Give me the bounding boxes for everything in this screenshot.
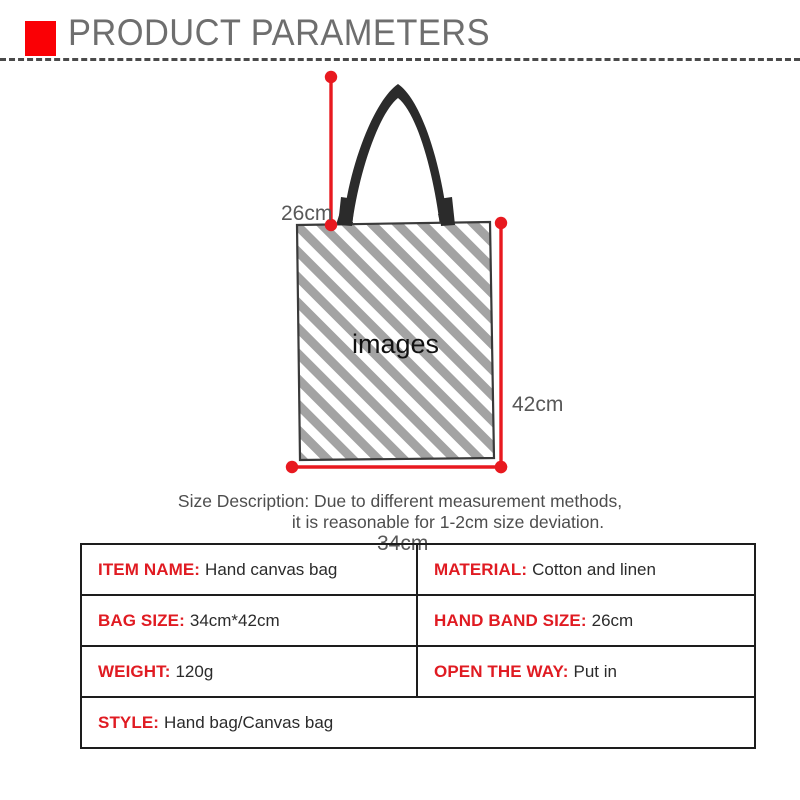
dimension-line-bag-width bbox=[286, 461, 507, 473]
spec-key: BAG SIZE: bbox=[98, 611, 185, 630]
spec-cell-weight: WEIGHT:120g bbox=[81, 646, 417, 697]
spec-value: 34cm*42cm bbox=[185, 611, 280, 630]
spec-key: OPEN THE WAY: bbox=[434, 662, 569, 681]
dimension-label-handle-drop: 26cm bbox=[281, 202, 332, 226]
image-watermark: images bbox=[352, 329, 439, 360]
dimension-line-bag-height bbox=[495, 217, 507, 473]
spec-cell-open-the-way: OPEN THE WAY:Put in bbox=[417, 646, 755, 697]
header-divider bbox=[0, 58, 800, 61]
dimension-label-bag-height: 42cm bbox=[512, 393, 563, 417]
page-title: PRODUCT PARAMETERS bbox=[68, 12, 490, 54]
spec-value: 120g bbox=[170, 662, 213, 681]
spec-key: STYLE: bbox=[98, 713, 159, 732]
size-description-line-2: it is reasonable for 1-2cm size deviatio… bbox=[0, 512, 800, 533]
page-header: PRODUCT PARAMETERS bbox=[0, 0, 800, 60]
size-description-line-1: Size Description: Due to different measu… bbox=[0, 491, 800, 512]
spec-value: Put in bbox=[569, 662, 617, 681]
spec-key: WEIGHT: bbox=[98, 662, 170, 681]
spec-cell-material: MATERIAL:Cotton and linen bbox=[417, 544, 755, 595]
table-row: ITEM NAME:Hand canvas bag MATERIAL:Cotto… bbox=[81, 544, 755, 595]
table-row: WEIGHT:120g OPEN THE WAY:Put in bbox=[81, 646, 755, 697]
spec-cell-item-name: ITEM NAME:Hand canvas bag bbox=[81, 544, 417, 595]
tote-bag-icon bbox=[0, 62, 800, 482]
spec-value: 26cm bbox=[587, 611, 634, 630]
spec-cell-bag-size: BAG SIZE:34cm*42cm bbox=[81, 595, 417, 646]
spec-cell-hand-band-size: HAND BAND SIZE:26cm bbox=[417, 595, 755, 646]
red-square-icon bbox=[25, 21, 56, 56]
spec-value: Hand bag/Canvas bag bbox=[159, 713, 333, 732]
spec-key: ITEM NAME: bbox=[98, 560, 200, 579]
spec-value: Hand canvas bag bbox=[200, 560, 337, 579]
table-row: STYLE:Hand bag/Canvas bag bbox=[81, 697, 755, 748]
size-description: Size Description: Due to different measu… bbox=[0, 491, 800, 533]
product-diagram: 26cm 42cm 34cm bbox=[0, 62, 800, 482]
specification-table: ITEM NAME:Hand canvas bag MATERIAL:Cotto… bbox=[80, 543, 756, 749]
spec-key: HAND BAND SIZE: bbox=[434, 611, 587, 630]
spec-cell-style: STYLE:Hand bag/Canvas bag bbox=[81, 697, 755, 748]
spec-key: MATERIAL: bbox=[434, 560, 527, 579]
table-row: BAG SIZE:34cm*42cm HAND BAND SIZE:26cm bbox=[81, 595, 755, 646]
spec-value: Cotton and linen bbox=[527, 560, 656, 579]
